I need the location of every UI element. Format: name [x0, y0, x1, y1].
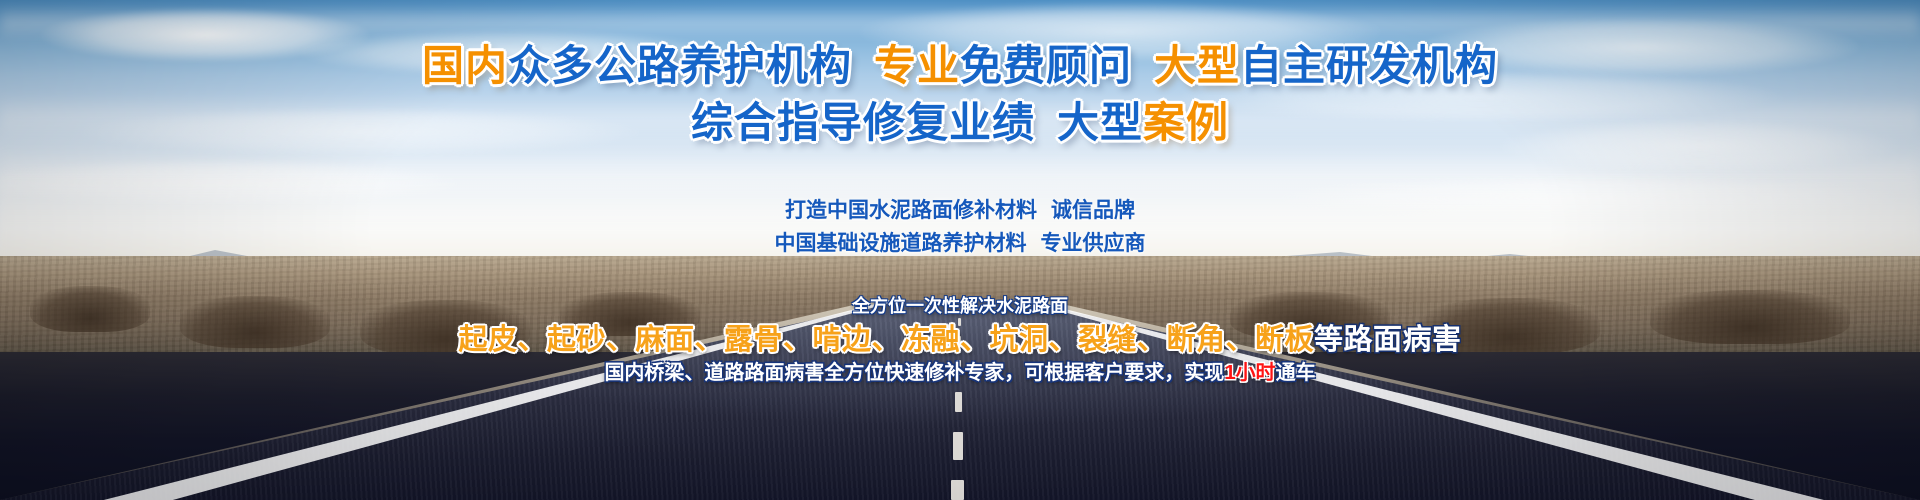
feature-caption: 全方位一次性解决水泥路面 — [0, 292, 1920, 318]
feature-defect-list-tail: 等路面病害 — [1314, 324, 1462, 356]
footer-tagline: 国内桥梁、道路路面病害全方位快速修补专家，可根据客户要求，实现1小时通车 — [0, 356, 1920, 385]
headline-l1-seg-1: 国内 — [422, 42, 508, 89]
subheadline-l1-seg-2: 诚信品牌 — [1051, 199, 1135, 222]
subheadline-line-1: 打造中国水泥路面修补材料诚信品牌 — [0, 194, 1920, 224]
headline-line-1: 国内众多公路养护机构专业免费顾问大型自主研发机构 — [0, 42, 1920, 90]
promotional-banner: 国内众多公路养护机构专业免费顾问大型自主研发机构 综合指导修复业绩大型案例 打造… — [0, 0, 1920, 500]
headline-l1-seg-2: 众多公路养护机构 — [508, 42, 852, 89]
footer-tagline-part2: 通车 — [1276, 362, 1316, 384]
footer-tagline-highlight: 1小时 — [1224, 362, 1275, 384]
headline-l1-seg-6: 自主研发机构 — [1240, 42, 1498, 89]
subheadline-line-2: 中国基础设施道路养护材料专业供应商 — [0, 227, 1920, 257]
headline-l2-seg-3: 案例 — [1143, 99, 1229, 146]
headline-l2-seg-1: 综合指导修复业绩 — [691, 99, 1035, 146]
feature-defect-list: 起皮、起砂、麻面、露骨、啃边、冻融、坑洞、裂缝、断角、断板等路面病害 — [0, 316, 1920, 358]
subheadline-l2-seg-1: 中国基础设施道路养护材料 — [775, 232, 1027, 255]
headline-l1-seg-4: 免费顾问 — [960, 42, 1132, 89]
headline-l1-seg-3: 专业 — [874, 42, 960, 89]
subheadline-l1-seg-1: 打造中国水泥路面修补材料 — [785, 199, 1037, 222]
subheadline-l2-seg-2: 专业供应商 — [1041, 232, 1146, 255]
lane-dash-6 — [951, 480, 964, 500]
headline-line-2: 综合指导修复业绩大型案例 — [0, 99, 1920, 147]
headline-l2-seg-2: 大型 — [1057, 99, 1143, 146]
feature-defect-list-orange: 起皮、起砂、麻面、露骨、啃边、冻融、坑洞、裂缝、断角、断板 — [458, 324, 1314, 356]
lane-dash-5 — [953, 432, 963, 460]
lane-dash-4 — [955, 392, 962, 412]
headline-l1-seg-5: 大型 — [1154, 42, 1240, 89]
footer-tagline-part1: 国内桥梁、道路路面病害全方位快速修补专家，可根据客户要求，实现 — [604, 362, 1224, 384]
